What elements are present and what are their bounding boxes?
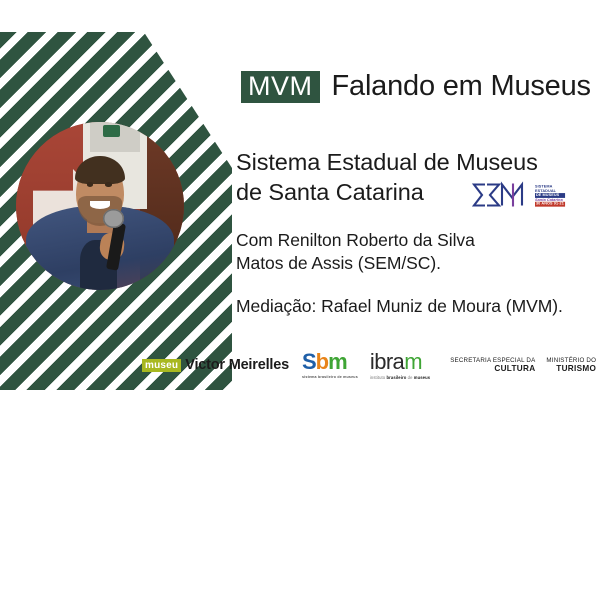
ministry-tourism-line-2: TURISMO bbox=[556, 364, 596, 373]
moderator-paragraph: Mediação: Rafael Muniz de Moura (MVM). bbox=[236, 295, 586, 318]
sem-logo-text: SISTEMA ESTADUAL DE MUSEUS Santa Catarin… bbox=[535, 184, 565, 206]
program-title: Falando em Museus bbox=[332, 70, 591, 103]
ministry-labels: SECRETARIA ESPECIAL DA CULTURA MINISTÉRI… bbox=[450, 357, 596, 373]
headline-line-1: Sistema Estadual de Museus bbox=[236, 148, 586, 178]
photo-background-accent bbox=[103, 125, 120, 137]
sbm-wordmark: Sbm bbox=[302, 351, 347, 373]
ibram-letter-m: m bbox=[404, 349, 422, 374]
museu-chip-label: museu bbox=[142, 359, 181, 372]
photo-eye-right bbox=[105, 182, 112, 186]
ministry-tourism: MINISTÉRIO DO TURISMO bbox=[546, 357, 596, 373]
sponsor-logo-strip: museu Victor Meirelles Sbm sistema brasi… bbox=[140, 340, 592, 390]
ibram-tagline-2: brasileiro bbox=[387, 375, 407, 380]
sem-monogram-icon bbox=[470, 180, 532, 210]
sem-line-5: 30 ANOS 91-21 bbox=[535, 202, 565, 206]
sbm-letter-b: b bbox=[316, 349, 328, 374]
body-text: Com Renilton Roberto da Silva Matos de A… bbox=[236, 229, 586, 318]
sbm-letter-m: m bbox=[328, 349, 347, 374]
ministry-culture-line-2: CULTURA bbox=[494, 364, 535, 373]
sbm-tagline: sistema brasileiro de museus bbox=[302, 375, 358, 379]
event-announcement-card: MVM Falando em Museus Sistema Estadual d… bbox=[0, 0, 600, 600]
photo-eye-left bbox=[87, 182, 94, 186]
sem-logo: SISTEMA ESTADUAL DE MUSEUS Santa Catarin… bbox=[470, 178, 582, 212]
ibram-tagline-3: de bbox=[406, 375, 413, 380]
ibram-logo: ibram instituto brasileiro de museus bbox=[370, 351, 430, 380]
museu-name-label: Victor Meirelles bbox=[185, 357, 289, 373]
photo-microphone-head bbox=[103, 209, 123, 227]
speaker-paragraph: Com Renilton Roberto da Silva Matos de A… bbox=[236, 229, 586, 275]
sbm-logo: Sbm sistema brasileiro de museus bbox=[302, 351, 358, 379]
ibram-tagline-4: museus bbox=[414, 375, 430, 380]
ministry-culture-line-1: SECRETARIA ESPECIAL DA bbox=[450, 357, 535, 364]
speaker-line-1: Com Renilton Roberto da Silva bbox=[236, 229, 586, 252]
ibram-tagline-1: instituto bbox=[370, 375, 387, 380]
ministry-culture: SECRETARIA ESPECIAL DA CULTURA bbox=[450, 357, 535, 373]
program-header: MVM Falando em Museus bbox=[241, 70, 591, 103]
ibram-letters: ibra bbox=[370, 349, 404, 374]
ibram-tagline: instituto brasileiro de museus bbox=[370, 375, 430, 380]
mvm-badge: MVM bbox=[241, 71, 320, 103]
sbm-letter-s: S bbox=[302, 349, 316, 374]
speaker-line-2: Matos de Assis (SEM/SC). bbox=[236, 252, 586, 275]
ibram-wordmark: ibram bbox=[370, 351, 422, 373]
ministry-tourism-line-1: MINISTÉRIO DO bbox=[546, 357, 596, 364]
museu-victor-meirelles-logo: museu Victor Meirelles bbox=[142, 357, 289, 373]
speaker-photo bbox=[16, 122, 184, 290]
